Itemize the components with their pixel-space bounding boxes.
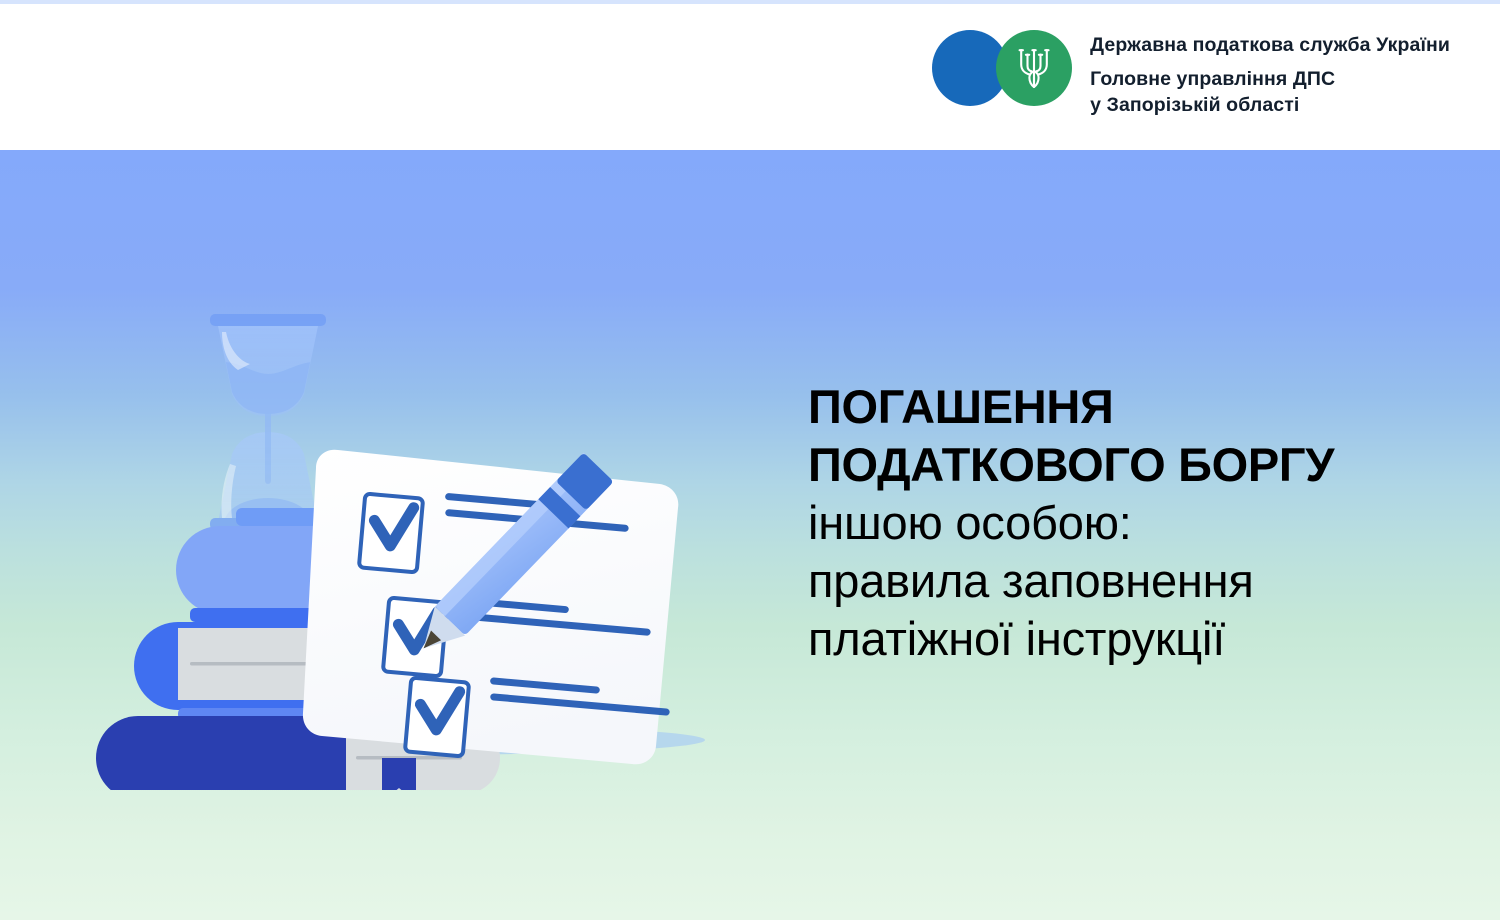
headline-line-1: ПОГАШЕННЯ <box>808 378 1468 436</box>
headline-line-5: платіжної інструкції <box>808 610 1468 668</box>
logo-marks <box>932 30 1074 106</box>
headline-line-3: іншою особою: <box>808 494 1468 552</box>
header-bar: Державна податкова служба України Головн… <box>0 4 1500 150</box>
agency-logo-block: Державна податкова служба України Головн… <box>932 30 1450 118</box>
tryzub-icon <box>1014 44 1054 92</box>
agency-name-text: Державна податкова служба України Головн… <box>1090 30 1450 118</box>
poster-root: Державна податкова служба України Головн… <box>0 0 1500 920</box>
agency-line-3: у Запорізькій області <box>1090 92 1450 118</box>
headline-line-2: ПОДАТКОВОГО БОРГУ <box>808 436 1468 494</box>
headline: ПОГАШЕННЯ ПОДАТКОВОГО БОРГУ іншою особою… <box>808 378 1468 668</box>
checklist-books-hourglass-illustration <box>60 270 740 790</box>
agency-line-1: Державна податкова служба України <box>1090 32 1450 58</box>
headline-line-4: правила заповнення <box>808 552 1468 610</box>
agency-line-2: Головне управління ДПС <box>1090 66 1450 92</box>
